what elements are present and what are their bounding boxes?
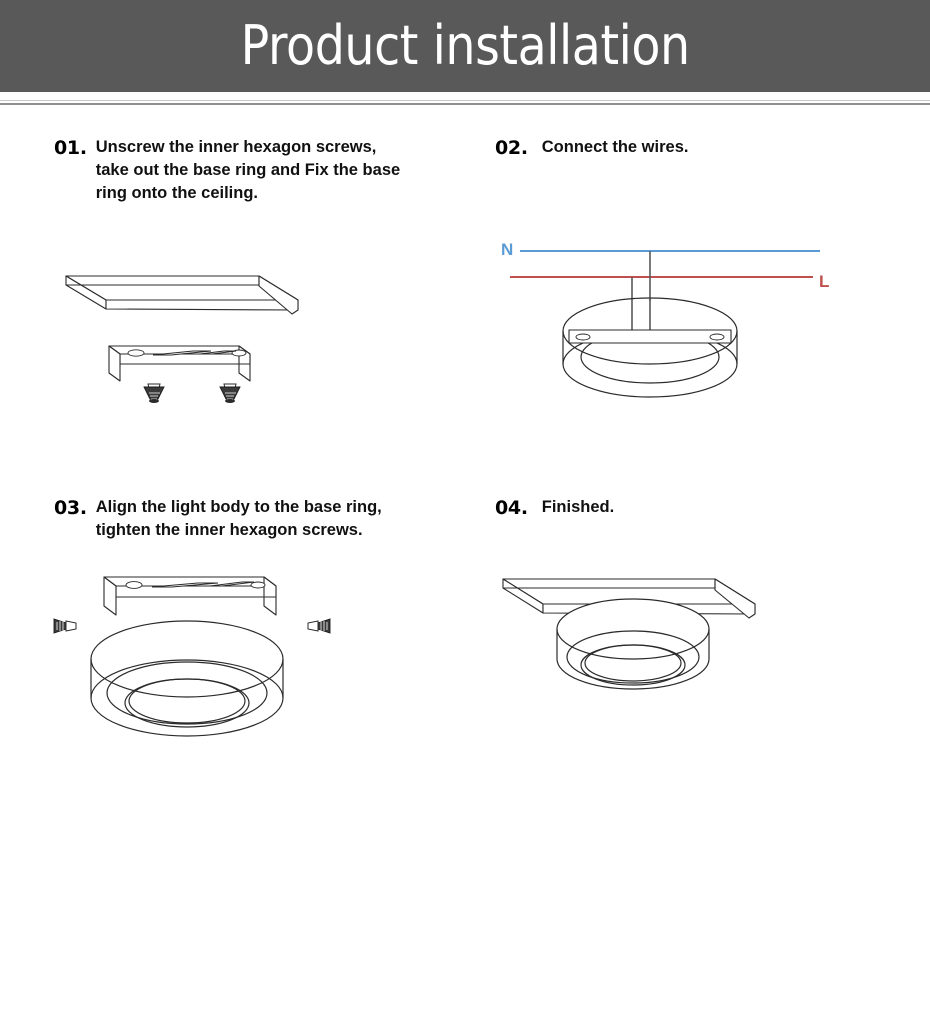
steps-container: 01. Unscrew the inner hexagon screws, ta… [0, 106, 930, 825]
bracket-hole-left [126, 582, 142, 589]
base-ring-above-light-body-illustration [42, 551, 342, 741]
step-02-heading: 02. Connect the wires. [465, 136, 930, 160]
step-03-line-2: tighten the inner hexagon screws. [96, 519, 382, 542]
step-04-heading: 04. Finished. [465, 496, 930, 520]
step-03-figure [42, 551, 342, 741]
step-04: 04. Finished. [465, 496, 930, 826]
step-02: 02. Connect the wires. N L [465, 136, 930, 486]
step-03-number: 03. [54, 496, 96, 520]
step-03-text: Align the light body to the base ring, t… [96, 496, 382, 542]
step-03-heading: 03. Align the light body to the base rin… [0, 496, 465, 542]
bracket-hole-left [576, 334, 590, 340]
live-wire-label: L [819, 272, 829, 291]
neutral-wire-label: N [501, 240, 513, 259]
page-title: Product installation [240, 18, 689, 74]
divider-line-bottom [0, 103, 930, 105]
step-04-text: Finished. [542, 496, 614, 519]
step-04-number: 04. [495, 496, 542, 520]
step-01-line-1: Unscrew the inner hexagon screws, [96, 136, 400, 159]
hex-screw-left [144, 384, 164, 403]
step-01-figure [54, 254, 354, 414]
step-01-line-2: take out the base ring and Fix the base [96, 159, 400, 182]
step-01-number: 01. [54, 136, 96, 160]
page-header: Product installation [0, 0, 930, 92]
hex-screw-right [220, 384, 240, 403]
bracket-hole-right [251, 582, 265, 588]
step-01: 01. Unscrew the inner hexagon screws, ta… [0, 136, 465, 486]
step-04-line-1: Finished. [542, 496, 614, 519]
step-01-text: Unscrew the inner hexagon screws, take o… [96, 136, 400, 205]
step-02-text: Connect the wires. [542, 136, 689, 159]
bracket-hole-right [710, 334, 724, 340]
step-02-number: 02. [495, 136, 542, 160]
bracket-right-leg [264, 577, 276, 615]
mounted-light-top-rim [557, 599, 709, 659]
mounting-bracket-bar [569, 330, 731, 343]
wiring-diagram-base-ring-illustration: N L [465, 231, 865, 411]
installed-light-on-ceiling-illustration [483, 551, 813, 741]
step-03-line-1: Align the light body to the base ring, [96, 496, 382, 519]
step-04-figure [483, 551, 813, 741]
header-divider [0, 100, 930, 105]
ceiling-plate-and-base-ring-with-screws-illustration [54, 254, 354, 414]
step-01-line-3: ring onto the ceiling. [96, 182, 400, 205]
step-03: 03. Align the light body to the base rin… [0, 496, 465, 826]
light-diffuser-inner [129, 679, 245, 723]
step-02-line-1: Connect the wires. [542, 136, 689, 159]
step-02-figure: N L [465, 231, 930, 411]
hex-screw-left [54, 619, 76, 633]
bracket-center-mark [649, 299, 651, 301]
hex-screw-right [308, 619, 330, 633]
light-body-top-rim [91, 621, 283, 697]
step-01-heading: 01. Unscrew the inner hexagon screws, ta… [0, 136, 465, 205]
